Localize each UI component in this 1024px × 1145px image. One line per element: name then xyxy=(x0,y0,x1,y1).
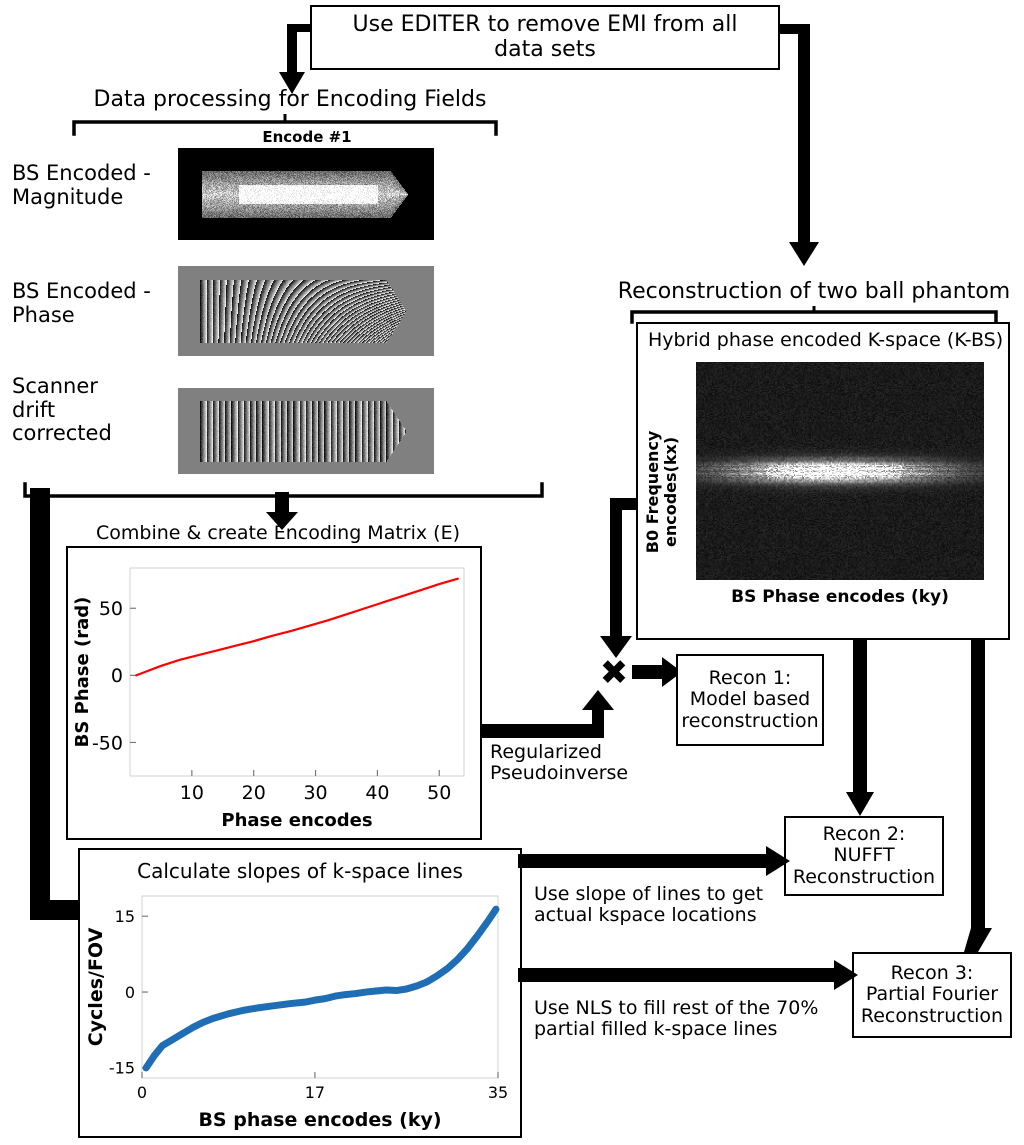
label-bs-encoded-magnitude: BS Encoded - Magnitude xyxy=(12,162,172,209)
kspace-image xyxy=(696,362,984,580)
svg-text:40: 40 xyxy=(365,782,389,804)
multiply-node: ✖ xyxy=(592,655,636,691)
scanner-drift-corrected-image xyxy=(178,388,434,474)
svg-text:50: 50 xyxy=(99,598,123,620)
recon-2-box: Recon 2: NUFFT Reconstruction xyxy=(784,816,944,896)
pseudoinverse-label: Regularized Pseudoinverse xyxy=(490,742,670,785)
arrow-top-to-right-panel xyxy=(770,14,830,274)
svg-text:Calculate slopes of k-space li: Calculate slopes of k-space lines xyxy=(137,859,463,883)
svg-text:30: 30 xyxy=(303,782,327,804)
svg-text:0: 0 xyxy=(111,665,123,687)
arrow-kspace-to-recon3 xyxy=(964,640,992,956)
bs-phase-chart-box: -500501020304050Phase encodesBS Phase (r… xyxy=(66,546,482,840)
kspace-ylabel: B0 Frequency encodes(kx) xyxy=(644,392,680,592)
right-panel-heading: Reconstruction of two ball phantom xyxy=(604,278,1024,306)
label-bs-encoded-phase: BS Encoded - Phase xyxy=(12,280,172,327)
label-scanner-drift-corrected: Scanner drift corrected xyxy=(12,375,142,446)
svg-text:15: 15 xyxy=(115,907,135,926)
svg-text:BS phase encodes (ky): BS phase encodes (ky) xyxy=(198,1109,441,1131)
kspace-slopes-chart-box: Calculate slopes of k-space lines-150150… xyxy=(78,848,522,1138)
svg-text:-15: -15 xyxy=(109,1059,135,1078)
encode-label: Encode #1 xyxy=(178,127,436,147)
bs-phase-chart: -500501020304050Phase encodesBS Phase (r… xyxy=(68,548,480,838)
svg-text:Cycles/FOV: Cycles/FOV xyxy=(85,927,107,1046)
kspace-xlabel: BS Phase encodes (ky) xyxy=(696,588,984,607)
recon-3-box: Recon 3: Partial Fourier Reconstruction xyxy=(852,952,1012,1038)
arrow-pseudoinverse-to-multiply xyxy=(478,690,638,742)
arrow-slopes-to-recon2 xyxy=(518,846,794,878)
figure-root: Use EDITER to remove EMI from all data s… xyxy=(0,0,1024,1145)
kspace-slopes-chart: Calculate slopes of k-space lines-150150… xyxy=(80,850,520,1136)
combine-encoding-matrix-label: Combine & create Encoding Matrix (E) xyxy=(68,522,488,546)
arrow-slopes-to-recon3 xyxy=(518,960,862,992)
recon-2-label: Recon 2: NUFFT Reconstruction xyxy=(790,824,938,888)
kspace-title: Hybrid phase encoded K-space (K-BS) xyxy=(648,330,1003,351)
svg-text:-50: -50 xyxy=(92,732,123,754)
arrow-kspace-to-multiply xyxy=(596,494,644,664)
svg-text:0: 0 xyxy=(125,983,135,1002)
svg-text:35: 35 xyxy=(488,1083,508,1102)
svg-text:20: 20 xyxy=(242,782,266,804)
svg-text:17: 17 xyxy=(305,1083,325,1102)
svg-text:10: 10 xyxy=(180,782,204,804)
recon-3-label: Recon 3: Partial Fourier Reconstruction xyxy=(858,963,1006,1027)
edge-label-nls-to-partial-fourier: Use NLS to fill rest of the 70% partial … xyxy=(534,998,844,1041)
left-panel-heading: Data processing for Encoding Fields xyxy=(60,86,520,114)
top-box-label: Use EDITER to remove EMI from all data s… xyxy=(326,13,764,62)
top-box-editer: Use EDITER to remove EMI from all data s… xyxy=(310,5,780,70)
svg-text:50: 50 xyxy=(427,782,451,804)
recon-1-box: Recon 1: Model based reconstruction xyxy=(676,654,824,746)
kspace-box: Hybrid phase encoded K-space (K-BS) B0 F… xyxy=(636,322,1010,640)
svg-text:0: 0 xyxy=(137,1083,147,1102)
svg-text:Phase encodes: Phase encodes xyxy=(221,810,372,831)
edge-label-slope-to-nufft: Use slope of lines to get actual kspace … xyxy=(534,884,784,927)
bs-encoded-phase-image xyxy=(178,266,434,356)
svg-text:BS Phase (rad): BS Phase (rad) xyxy=(72,597,93,748)
arrow-kspace-to-recon2 xyxy=(846,640,874,820)
recon-1-label: Recon 1: Model based reconstruction xyxy=(681,668,818,732)
bs-encoded-magnitude-image xyxy=(178,148,434,240)
